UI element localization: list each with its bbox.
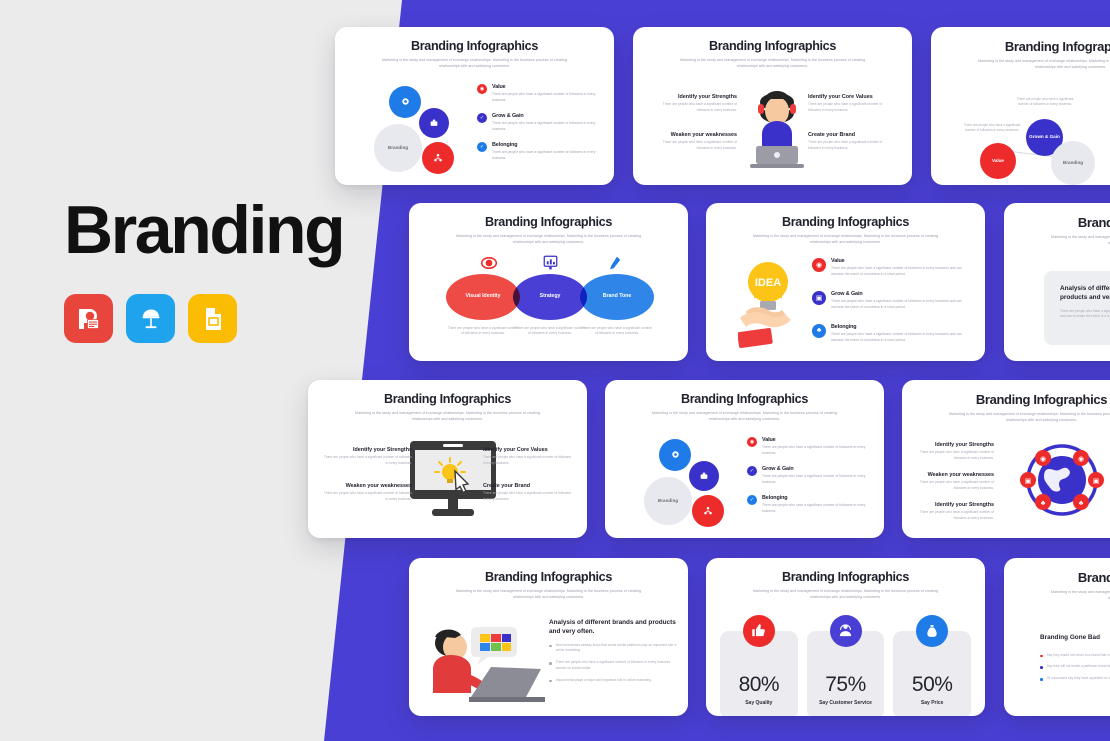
slide-title: Branding Infographics: [945, 39, 1110, 54]
support-icon: [830, 615, 862, 647]
quadrant-label: Create your Brand: [483, 483, 573, 489]
legend-label: Value: [492, 84, 604, 90]
check-icon: ✓: [477, 113, 487, 123]
google-slides-icon[interactable]: [188, 294, 237, 343]
legend-item[interactable]: ♣ Belonging There are people who have a …: [812, 324, 973, 344]
slide-title: Branding Infographics: [720, 570, 971, 584]
legend-label: Belonging: [492, 142, 604, 148]
legend-list: ◉ Value There are people who have a sign…: [812, 258, 973, 353]
stat-label: Say Quality: [745, 700, 772, 707]
quadrant-desc: There are people who have a significant …: [322, 491, 412, 503]
slide-title: Branding Infographics: [647, 39, 898, 53]
slide-title: Branding Infographics: [1018, 570, 1110, 585]
slide-branding-gone-bad[interactable]: Branding Infographics Marketing is the s…: [1004, 558, 1110, 716]
quadrant-label: Create your Brand: [808, 132, 894, 138]
venn-label: Visual Identity: [465, 293, 500, 300]
legend-label: Grow & Gain: [831, 291, 973, 297]
quadrant-left-3[interactable]: Identify your Strengths There are people…: [916, 502, 994, 522]
legend-item[interactable]: ✓ Grow & Gain There are people who have …: [477, 113, 604, 133]
people-icon: ♣: [812, 324, 826, 338]
check-icon: ✓: [747, 466, 757, 476]
quadrant-label: Identify your Core Values: [483, 447, 573, 453]
node-label: Value: [992, 158, 1004, 164]
legend-desc: There are people who have a significant …: [831, 299, 973, 311]
slide-subtitle: Marketing is the study and management of…: [743, 588, 948, 601]
legend-label: Belonging: [831, 324, 973, 330]
person-with-laptop-illustration: [746, 88, 808, 172]
circle-indigo: [419, 108, 449, 138]
legend-list: ◉ Value There are people who have a sign…: [477, 84, 604, 171]
slide-title: Branding Infographics: [916, 392, 1110, 407]
quadrant-top-right[interactable]: Identify your Core Values There are peop…: [808, 94, 894, 114]
bullet-dot: [549, 645, 552, 648]
svg-text:IDEA: IDEA: [755, 277, 781, 289]
legend-desc: There are people who have a significant …: [831, 332, 973, 344]
quadrant-label: Weaken your weaknesses: [916, 472, 994, 478]
app-format-icons: [64, 294, 304, 343]
quadrant-desc: There are people who have a significant …: [916, 510, 994, 522]
bullet-item: Say they will not revisit a particular b…: [1040, 664, 1110, 670]
svg-text:▣: ▣: [1025, 478, 1032, 485]
circle-branding-center: Branding: [374, 124, 422, 172]
quadrant-label: Identify your Strengths: [916, 442, 994, 448]
slide-venn[interactable]: Branding Infographics Marketing is the s…: [409, 203, 688, 361]
quadrant-desc: There are people who have a significant …: [916, 450, 994, 462]
legend-label: Grow & Gain: [492, 113, 604, 119]
slide-title: Branding Infographics: [720, 215, 971, 229]
eye-icon: [481, 256, 497, 274]
legend-item[interactable]: ✓ Grow & Gain There are people who have …: [747, 466, 874, 486]
quadrant-left-2[interactable]: Weaken your weaknesses There are people …: [916, 472, 994, 492]
slide-subtitle: Marketing is the study and management of…: [743, 233, 948, 246]
slide-subtitle: Marketing is the study and management of…: [446, 233, 651, 246]
check-icon: ✓: [747, 495, 757, 505]
stat-card-quality[interactable]: 80% Say Quality: [720, 631, 798, 716]
quadrant-desc: There are people who have a significant …: [808, 140, 894, 152]
target-icon: ◉: [747, 437, 757, 447]
pen-icon: [608, 256, 621, 275]
venn-label: Strategy: [540, 293, 561, 300]
circle-blue: [659, 439, 691, 471]
venn-strategy: Strategy: [513, 274, 587, 320]
analysis-card: Analysis of different brands and product…: [1044, 271, 1110, 345]
stat-label: Say Price: [921, 700, 944, 707]
circle-indigo: [689, 461, 719, 491]
slide-title: Branding Infographics: [423, 570, 674, 584]
slide-circles-legend-1[interactable]: Branding Infographics Marketing is the s…: [335, 27, 614, 185]
slide-subtitle: Marketing is the study and management of…: [372, 57, 577, 70]
quadrant-label: Identify your Strengths: [916, 502, 994, 508]
slide-subtitle: Marketing is the study and management of…: [1041, 234, 1110, 247]
bullet-text: Of consumers say they have appeared on s…: [1047, 676, 1110, 682]
circle-red: [692, 495, 724, 527]
quadrant-desc: There are people who have a significant …: [651, 102, 737, 114]
legend-label: Grow & Gain: [762, 466, 874, 472]
slide-subtitle: Marketing is the study and management of…: [670, 57, 875, 70]
legend-item[interactable]: ◉ Value There are people who have a sign…: [747, 437, 874, 457]
legend-label: Belonging: [762, 495, 874, 501]
slide-subtitle: Marketing is the study and management of…: [446, 588, 651, 601]
quadrant-desc: There are people who have a significant …: [483, 491, 573, 503]
legend-item[interactable]: ◉ Value There are people who have a sign…: [812, 258, 973, 278]
legend-desc: There are people who have a significant …: [762, 445, 874, 457]
quadrant-top-left[interactable]: Identify your Strengths There are people…: [651, 94, 737, 114]
venn-caption: There are people who have a significant …: [447, 326, 519, 338]
analysis-heading: Analysis of different brands and product…: [1060, 285, 1110, 303]
stat-value: 50%: [912, 673, 953, 697]
svg-text:▣: ▣: [1093, 478, 1100, 485]
check-icon: ✓: [477, 142, 487, 152]
node-caption: There are people who have a significant …: [1016, 97, 1074, 108]
analysis-block: Analysis of different brands and product…: [549, 619, 677, 690]
analysis-desc: There are people who have a significant …: [1060, 309, 1110, 321]
bullet-dot: [549, 680, 552, 683]
chart-icon: [543, 255, 558, 275]
stat-value: 80%: [739, 673, 780, 697]
slide-analysis-right[interactable]: Branding Infographics Marketing is the s…: [1004, 203, 1110, 361]
node-branding-center: Branding: [1051, 141, 1095, 185]
svg-text:♣: ♣: [1041, 500, 1046, 507]
slide-person-laptop[interactable]: Branding Infographics Marketing is the s…: [633, 27, 912, 185]
bullet-item: There are people who have a significant …: [549, 660, 677, 672]
quadrant-bottom-left[interactable]: Weaken your weaknesses There are people …: [651, 132, 737, 152]
quadrant-label: Weaken your weaknesses: [322, 483, 412, 489]
quadrant-label: Identify your Strengths: [322, 447, 412, 453]
page-title: Branding: [64, 196, 304, 264]
globe-illustration: ◉◉ ▣▣ ♣♣: [1020, 438, 1104, 522]
quadrant-bottom-right[interactable]: Create your Brand There are people who h…: [808, 132, 894, 152]
quadrant-top-right[interactable]: Identify your Core Values There are peop…: [483, 447, 573, 467]
slide-subtitle: Marketing is the study and management of…: [642, 410, 847, 423]
circle-center-label: Branding: [658, 498, 678, 503]
quadrant-left-1[interactable]: Identify your Strengths There are people…: [916, 442, 994, 462]
circle-branding-center: Branding: [644, 477, 692, 525]
person-at-laptop-illustration: [425, 625, 545, 703]
legend-item[interactable]: ✓ Belonging There are people who have a …: [477, 142, 604, 162]
bullet-text: Say they will not revisit a particular b…: [1047, 664, 1110, 670]
slide-monitor[interactable]: Branding Infographics Marketing is the s…: [308, 380, 587, 538]
quadrant-label: Identify your Core Values: [808, 94, 894, 100]
legend-desc: There are people who have a significant …: [831, 266, 973, 278]
slide-globe[interactable]: Branding Infographics Marketing is the s…: [902, 380, 1110, 538]
node-label: Branding: [1063, 160, 1083, 166]
slide-circles-legend-2[interactable]: Branding Infographics Marketing is the s…: [605, 380, 884, 538]
node-value: Value: [980, 143, 1016, 179]
slide-stats[interactable]: Branding Infographics Marketing is the s…: [706, 558, 985, 716]
circle-red: [422, 142, 454, 174]
bullet-dot: [1040, 655, 1043, 658]
bad-list-block: Branding Gone Bad Say they would not ret…: [1040, 634, 1110, 688]
svg-text:♣: ♣: [1079, 500, 1084, 507]
venn-brand-tone: Brand Tone: [580, 274, 654, 320]
slide-subtitle: Marketing is the study and management of…: [345, 410, 550, 423]
analysis-heading: Analysis of different brands and product…: [549, 619, 677, 637]
price-tag-icon: [916, 615, 948, 647]
circle-blue: [389, 86, 421, 118]
target-icon: ◉: [477, 84, 487, 94]
quadrant-desc: There are people who have a significant …: [483, 455, 573, 467]
legend-desc: There are people who have a significant …: [762, 474, 874, 486]
bullet-item: Visual media plays a major and important…: [549, 678, 677, 684]
circle-center-label: Branding: [388, 145, 408, 150]
thumbs-up-icon: [743, 615, 775, 647]
stat-card-price[interactable]: 50% Say Price: [893, 631, 971, 716]
slide-title: Branding Infographics: [423, 215, 674, 229]
legend-item[interactable]: ▣ Grow & Gain There are people who have …: [812, 291, 973, 311]
quadrant-label: Weaken your weaknesses: [651, 132, 737, 138]
slide-subtitle: Marketing is the study and management of…: [1041, 589, 1110, 602]
bullet-item: Of consumers say they have appeared on s…: [1040, 676, 1110, 682]
legend-label: Value: [762, 437, 874, 443]
quadrant-desc: There are people who have a significant …: [916, 480, 994, 492]
venn-label: Brand Tone: [603, 293, 631, 300]
bullet-text: Most businesses already know that social…: [556, 643, 677, 655]
bullet-dot: [1040, 666, 1043, 669]
svg-text:◉: ◉: [1078, 456, 1084, 463]
bullet-item: Say they would not return to a brand tha…: [1040, 653, 1110, 659]
bullet-dot: [549, 662, 552, 665]
node-label: Grown & Gain: [1029, 134, 1060, 140]
slide-title: Branding Infographics: [619, 392, 870, 406]
keynote-icon[interactable]: [126, 294, 175, 343]
node-caption: There are people who have a significant …: [963, 123, 1021, 134]
legend-item[interactable]: ◉ Value There are people who have a sign…: [477, 84, 604, 104]
legend-desc: There are people who have a significant …: [492, 150, 604, 162]
quadrant-bottom-left[interactable]: Weaken your weaknesses There are people …: [322, 483, 412, 503]
legend-desc: There are people who have a significant …: [762, 503, 874, 515]
bullet-item: Most businesses already know that social…: [549, 643, 677, 655]
bag-icon: ▣: [812, 291, 826, 305]
quadrant-desc: There are people who have a significant …: [322, 455, 412, 467]
hero-panel: Branding: [64, 196, 304, 343]
legend-label: Value: [831, 258, 973, 264]
venn-visual-identity: Visual Identity: [446, 274, 520, 320]
bad-list-heading: Branding Gone Bad: [1040, 634, 1110, 643]
stat-card-customer-service[interactable]: 75% Say Customer Service: [807, 631, 885, 716]
svg-text:◉: ◉: [1040, 456, 1046, 463]
quadrant-desc: There are people who have a significant …: [651, 140, 737, 152]
slide-node-map[interactable]: Branding Infographics Marketing is the s…: [931, 27, 1110, 185]
stat-label: Say Customer Service: [819, 700, 872, 707]
bullet-text: Visual media plays a major and important…: [556, 678, 652, 684]
slide-analysis-person[interactable]: Branding Infographics Marketing is the s…: [409, 558, 688, 716]
stat-value: 75%: [825, 673, 866, 697]
bullet-dot: [1040, 678, 1043, 681]
slide-idea-bulb[interactable]: Branding Infographics Marketing is the s…: [706, 203, 985, 361]
venn-caption: There are people who have a significant …: [581, 326, 653, 338]
quadrant-bottom-right[interactable]: Create your Brand There are people who h…: [483, 483, 573, 503]
slide-title: Branding Infographics: [322, 392, 573, 406]
quadrant-top-left[interactable]: Identify your Strengths There are people…: [322, 447, 412, 467]
slide-subtitle: Marketing is the study and management of…: [968, 58, 1110, 71]
bullet-text: Say they would not return to a brand tha…: [1047, 653, 1110, 659]
slide-title: Branding Infographics: [349, 39, 600, 53]
legend-desc: There are people who have a significant …: [492, 92, 604, 104]
bullet-text: There are people who have a significant …: [556, 660, 677, 672]
slide-grid: Branding Infographics Marketing is the s…: [0, 0, 1110, 741]
slide-title: Branding Infographics: [1018, 215, 1110, 230]
venn-caption: There are people who have a significant …: [514, 326, 586, 338]
quadrant-desc: There are people who have a significant …: [808, 102, 894, 114]
quadrant-label: Identify your Strengths: [651, 94, 737, 100]
legend-list: ◉ Value There are people who have a sign…: [747, 437, 874, 524]
hand-holding-bulb-illustration: IDEA: [738, 258, 798, 350]
slide-subtitle: Marketing is the study and management of…: [939, 411, 1110, 424]
powerpoint-icon[interactable]: [64, 294, 113, 343]
target-icon: ◉: [812, 258, 826, 272]
legend-item[interactable]: ✓ Belonging There are people who have a …: [747, 495, 874, 515]
legend-desc: There are people who have a significant …: [492, 121, 604, 133]
